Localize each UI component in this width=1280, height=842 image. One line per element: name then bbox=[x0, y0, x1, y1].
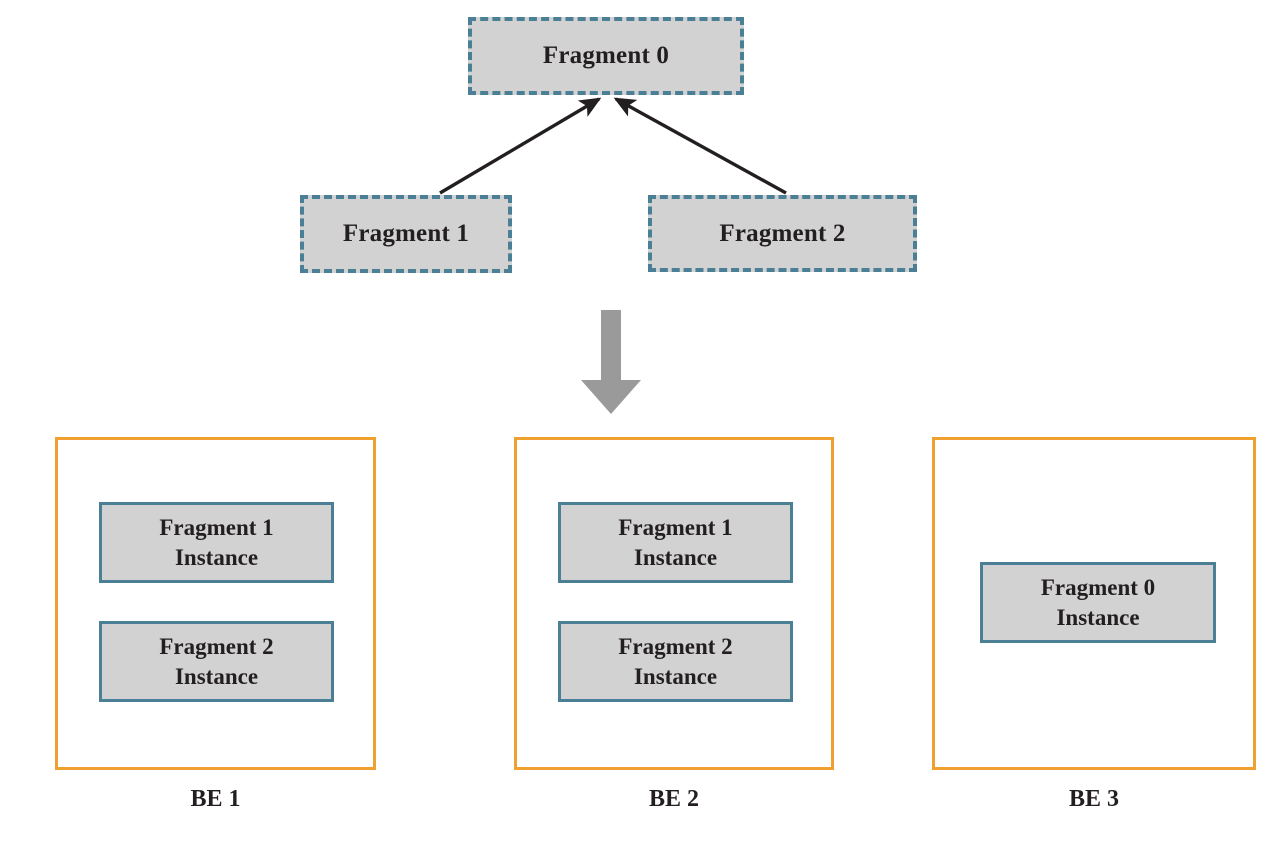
fragment-1-box[interactable]: Fragment 1 bbox=[300, 195, 512, 273]
fragment-1-label: Fragment 1 bbox=[343, 220, 469, 248]
be-1-instance-fragment-1[interactable]: Fragment 1 Instance bbox=[99, 502, 334, 583]
edge-fragment2-to-fragment0 bbox=[616, 99, 786, 193]
instance-label-line1: Fragment 2 bbox=[159, 632, 273, 661]
instance-label-line2: Instance bbox=[1056, 603, 1139, 632]
be-1-label: BE 1 bbox=[55, 786, 376, 813]
be-2-container[interactable]: Fragment 1 Instance Fragment 2 Instance bbox=[514, 437, 834, 770]
fragment-0-box[interactable]: Fragment 0 bbox=[468, 17, 744, 95]
instance-label-line1: Fragment 2 bbox=[618, 632, 732, 661]
edge-fragment1-to-fragment0 bbox=[440, 99, 599, 193]
fragment-2-box[interactable]: Fragment 2 bbox=[648, 195, 917, 272]
fragment-2-label: Fragment 2 bbox=[719, 220, 845, 248]
instance-label-line2: Instance bbox=[634, 543, 717, 572]
instance-label-line1: Fragment 1 bbox=[159, 513, 273, 542]
be-2-instance-fragment-2[interactable]: Fragment 2 Instance bbox=[558, 621, 793, 702]
instance-label-line2: Instance bbox=[175, 543, 258, 572]
be-2-instance-fragment-1[interactable]: Fragment 1 Instance bbox=[558, 502, 793, 583]
be-1-container[interactable]: Fragment 1 Instance Fragment 2 Instance bbox=[55, 437, 376, 770]
instance-label-line1: Fragment 1 bbox=[618, 513, 732, 542]
be-1-instance-fragment-2[interactable]: Fragment 2 Instance bbox=[99, 621, 334, 702]
instance-label-line2: Instance bbox=[634, 662, 717, 691]
instance-label-line2: Instance bbox=[175, 662, 258, 691]
distribute-block-arrow-icon bbox=[581, 310, 641, 414]
be-3-label: BE 3 bbox=[932, 786, 1256, 813]
be-2-label: BE 2 bbox=[514, 786, 834, 813]
be-3-instance-fragment-0[interactable]: Fragment 0 Instance bbox=[980, 562, 1216, 643]
be-3-container[interactable]: Fragment 0 Instance bbox=[932, 437, 1256, 770]
instance-label-line1: Fragment 0 bbox=[1041, 573, 1155, 602]
diagram-canvas: Fragment 0 Fragment 1 Fragment 2 Fragmen… bbox=[0, 0, 1280, 842]
fragment-0-label: Fragment 0 bbox=[543, 42, 669, 70]
